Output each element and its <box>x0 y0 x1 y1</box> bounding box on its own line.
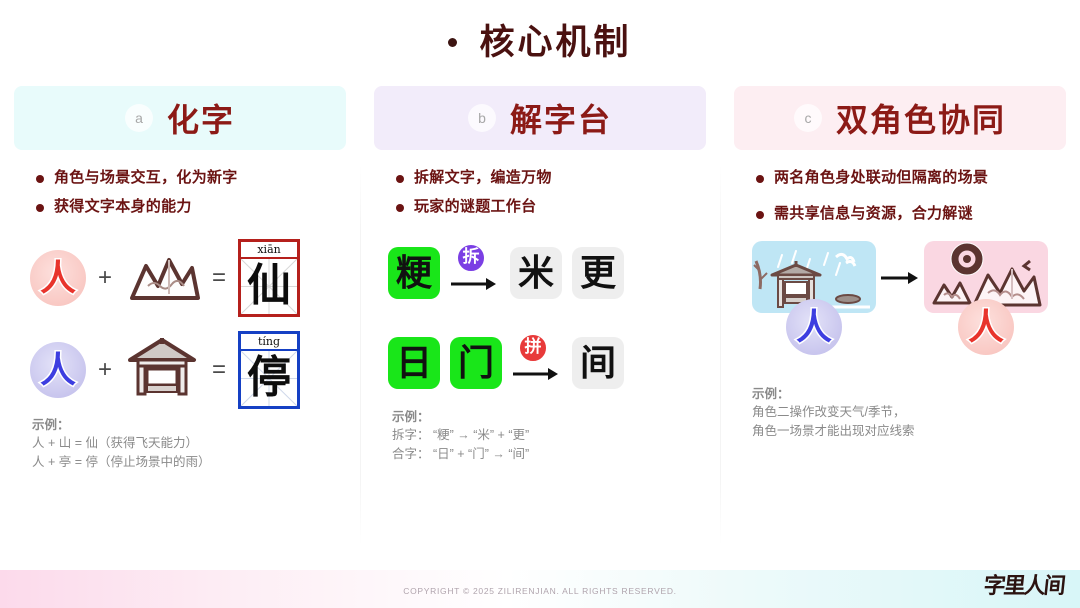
bullet-text: 拆解文字，编造万物 <box>414 168 552 188</box>
bullet-item: 两名角色身处联动但隔离的场景 <box>756 168 1066 188</box>
scene-block-one: 人 <box>752 241 876 355</box>
bullet-text: 玩家的谜题工作台 <box>414 197 536 217</box>
bullet-dot-icon <box>36 204 44 212</box>
pavilion-icon <box>124 336 200 403</box>
bullet-item: 拆解文字，编造万物 <box>396 168 706 188</box>
brand-logo: 字里人间 <box>982 568 1065 600</box>
pinyin-label: xiān <box>241 242 297 259</box>
mountain-icon <box>124 246 200 309</box>
char-tile[interactable]: 间 <box>572 337 624 389</box>
bullet-text: 两名角色身处联动但隔离的场景 <box>774 168 988 188</box>
tile-row: 粳 拆 米 更 <box>374 228 706 318</box>
column-c-bullets: 两名角色身处联动但隔离的场景 需共享信息与资源，合力解谜 <box>734 168 1066 225</box>
column-hua-zi: a 化字 角色与场景交互，化为新字 获得文字本身的能力 人 <box>0 86 360 556</box>
bullet-text: 获得文字本身的能力 <box>54 197 192 217</box>
split-badge[interactable]: 拆 <box>456 243 486 273</box>
bullet-dot-icon <box>36 175 44 183</box>
char-tile[interactable]: 门 <box>450 337 502 389</box>
character-card-ting: tíng 停 <box>238 331 300 409</box>
bullet-item: 玩家的谜题工作台 <box>396 197 706 217</box>
char-tile[interactable]: 更 <box>572 247 624 299</box>
note-line: 拆字： “粳” → “米” + “更” <box>392 426 706 445</box>
column-a-badge: a <box>125 104 153 132</box>
column-b-badge: b <box>468 104 496 132</box>
plus-operator: + <box>96 264 114 292</box>
scene-row: 人 <box>734 241 1066 355</box>
avatar-label: 人 <box>40 260 76 296</box>
bullet-dot-icon <box>396 175 404 183</box>
column-a-bullets: 角色与场景交互，化为新字 获得文字本身的能力 <box>14 168 346 218</box>
page-title: 核心机制 <box>0 14 1080 65</box>
split-action[interactable]: 拆 <box>450 245 500 301</box>
character-card-xian: xiān 仙 <box>238 239 300 317</box>
column-jie-zi-tai: b 解字台 拆解文字，编造万物 玩家的谜题工作台 粳 拆 <box>360 86 720 556</box>
plus-operator: + <box>96 356 114 384</box>
note-heading: 示例： <box>32 416 346 435</box>
bullet-text: 角色与场景交互，化为新字 <box>54 168 238 188</box>
equals-operator: = <box>210 356 228 384</box>
column-c-header: c 双角色协同 <box>734 86 1066 150</box>
character-glyph: 仙 <box>247 264 291 308</box>
bullet-item: 需共享信息与资源，合力解谜 <box>756 204 1066 224</box>
note-line: 角色一场景才能出现对应线索 <box>752 422 1066 441</box>
columns-container: a 化字 角色与场景交互，化为新字 获得文字本身的能力 人 <box>0 86 1080 556</box>
tianzige-cell: 仙 <box>241 259 297 314</box>
column-c-badge: c <box>794 104 822 132</box>
slide-canvas: 核心机制 a 化字 角色与场景交互，化为新字 获得文字本身的能力 <box>0 0 1080 608</box>
note-line: 人 + 亭 = 停（停止场景中的雨） <box>32 453 346 472</box>
arrow-right-icon <box>880 241 920 290</box>
avatar: 人 <box>786 299 842 355</box>
avatar-label: 人 <box>40 352 76 388</box>
arrow-right-icon <box>512 367 560 381</box>
bullet-item: 获得文字本身的能力 <box>36 197 346 217</box>
char-tile[interactable]: 粳 <box>388 247 440 299</box>
bullet-text: 需共享信息与资源，合力解谜 <box>774 204 973 224</box>
merge-action[interactable]: 拼 <box>512 335 562 391</box>
note-line: 合字： “日” + “门” → “间” <box>392 445 706 464</box>
compose-row: 人 + = xiān <box>14 232 346 324</box>
bullet-dot-icon <box>756 175 764 183</box>
char-tile[interactable]: 米 <box>510 247 562 299</box>
char-tile[interactable]: 日 <box>388 337 440 389</box>
decompose-diagram: 粳 拆 米 更 日 门 拼 <box>374 228 706 408</box>
dual-scene-diagram: 人 <box>734 241 1066 355</box>
scene-block-two: 人 <box>924 241 1048 355</box>
merge-badge[interactable]: 拼 <box>518 333 548 363</box>
note-heading: 示例： <box>752 385 1066 404</box>
avatar: 人 <box>30 342 86 398</box>
bullet-item: 角色与场景交互，化为新字 <box>36 168 346 188</box>
arrow-right-icon <box>450 277 498 291</box>
bullet-dot-icon <box>756 211 764 219</box>
column-c-title: 双角色协同 <box>836 95 1006 141</box>
column-a-note: 示例： 人 + 山 = 仙（获得飞天能力） 人 + 亭 = 停（停止场景中的雨） <box>14 416 346 472</box>
bullet-dot-icon <box>448 38 457 47</box>
compose-diagram: 人 + = xiān <box>14 232 346 416</box>
avatar-label: 人 <box>796 309 832 345</box>
pinyin-label: tíng <box>241 334 297 351</box>
column-b-header: b 解字台 <box>374 86 706 150</box>
copyright-text: COPYRIGHT © 2025 ZILIRENJIAN. ALL RIGHTS… <box>0 586 1080 596</box>
column-b-title: 解字台 <box>510 95 612 141</box>
avatar: 人 <box>30 250 86 306</box>
character-glyph: 停 <box>247 356 291 400</box>
tile-row: 日 门 拼 间 <box>374 318 706 408</box>
page-title-text: 核心机制 <box>479 14 631 65</box>
column-c-note: 示例： 角色二操作改变天气/季节， 角色一场景才能出现对应线索 <box>734 385 1066 441</box>
bullet-dot-icon <box>396 204 404 212</box>
column-shuang-jue-se: c 双角色协同 两名角色身处联动但隔离的场景 需共享信息与资源，合力解谜 <box>720 86 1080 556</box>
equals-operator: = <box>210 264 228 292</box>
avatar-label: 人 <box>968 309 1004 345</box>
column-a-header: a 化字 <box>14 86 346 150</box>
note-line: 人 + 山 = 仙（获得飞天能力） <box>32 434 346 453</box>
tianzige-cell: 停 <box>241 351 297 406</box>
column-b-note: 示例： 拆字： “粳” → “米” + “更” 合字： “日” + “门” → … <box>374 408 706 464</box>
note-line: 角色二操作改变天气/季节， <box>752 403 1066 422</box>
compose-row: 人 + = <box>14 324 346 416</box>
note-heading: 示例： <box>392 408 706 427</box>
avatar: 人 <box>958 299 1014 355</box>
column-b-bullets: 拆解文字，编造万物 玩家的谜题工作台 <box>374 168 706 218</box>
column-a-title: 化字 <box>167 95 235 141</box>
